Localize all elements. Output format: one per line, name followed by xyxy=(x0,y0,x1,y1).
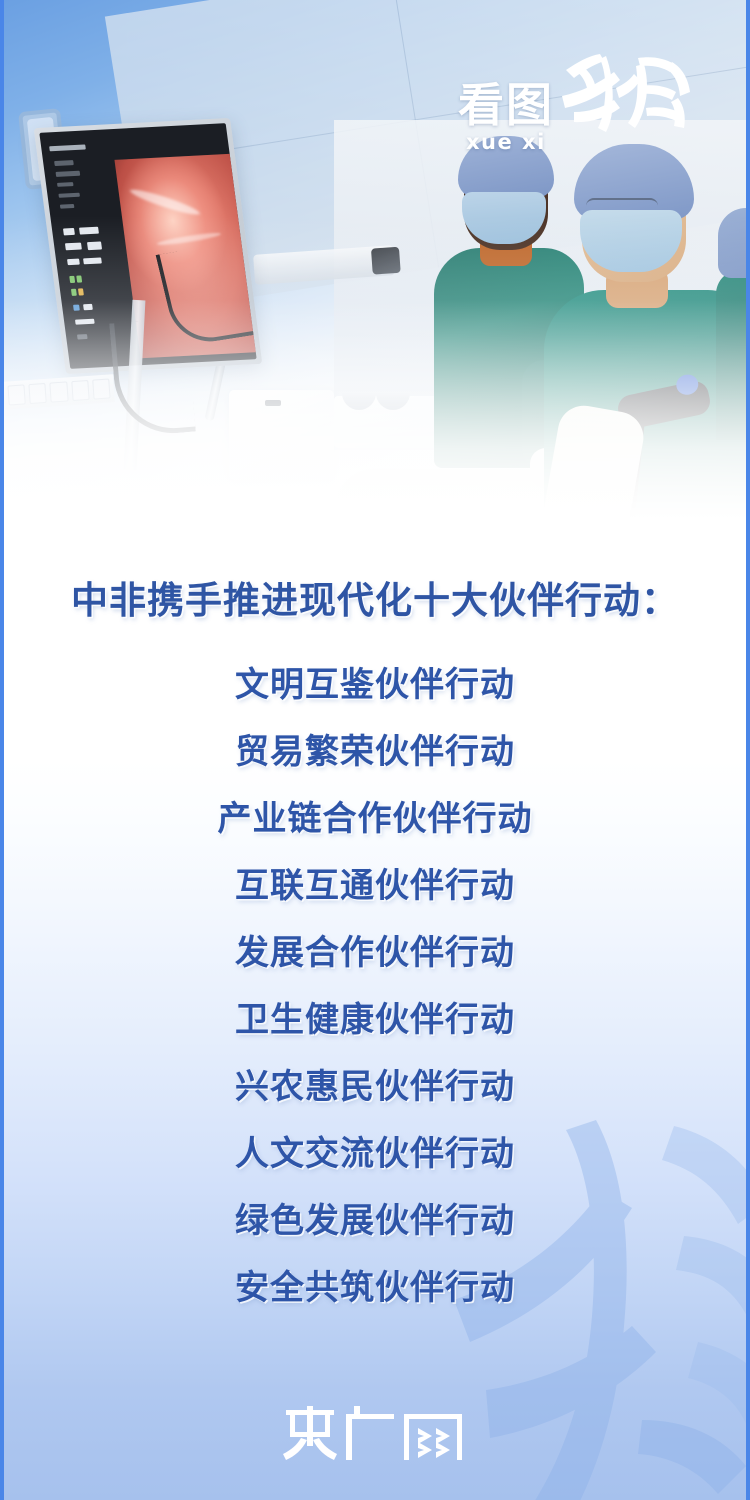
list-item: 发展合作伙伴行动 xyxy=(4,920,746,987)
list-item: 贸易繁荣伙伴行动 xyxy=(4,719,746,786)
list-item: 绿色发展伙伴行动 xyxy=(4,1188,746,1255)
page-title: 中非携手推进现代化十大伙伴行动： xyxy=(4,570,746,624)
actions-list: 文明互鉴伙伴行动 贸易繁荣伙伴行动 产业链合作伙伴行动 互联互通伙伴行动 发展合… xyxy=(4,652,746,1322)
list-item: 人文交流伙伴行动 xyxy=(4,1121,746,1188)
list-item: 卫生健康伙伴行动 xyxy=(4,987,746,1054)
list-item: 文明互鉴伙伴行动 xyxy=(4,652,746,719)
list-item: 互联互通伙伴行动 xyxy=(4,853,746,920)
publisher-logo-yangguangwang xyxy=(280,1406,470,1464)
brand-kantu-text: 看图 xyxy=(458,82,554,128)
poster: 看图 xyxy=(0,0,750,1500)
brand-xuexi-calligraphy-icon xyxy=(560,50,692,134)
list-item: 产业链合作伙伴行动 xyxy=(4,786,746,853)
list-item: 安全共筑伙伴行动 xyxy=(4,1255,746,1322)
list-item: 兴农惠民伙伴行动 xyxy=(4,1054,746,1121)
content-area: 中非携手推进现代化十大伙伴行动： 文明互鉴伙伴行动 贸易繁荣伙伴行动 产业链合作… xyxy=(4,540,746,1322)
footer xyxy=(4,1370,746,1500)
photo-bottom-fade xyxy=(4,300,750,540)
brand-logo: 看图 xyxy=(458,44,718,148)
